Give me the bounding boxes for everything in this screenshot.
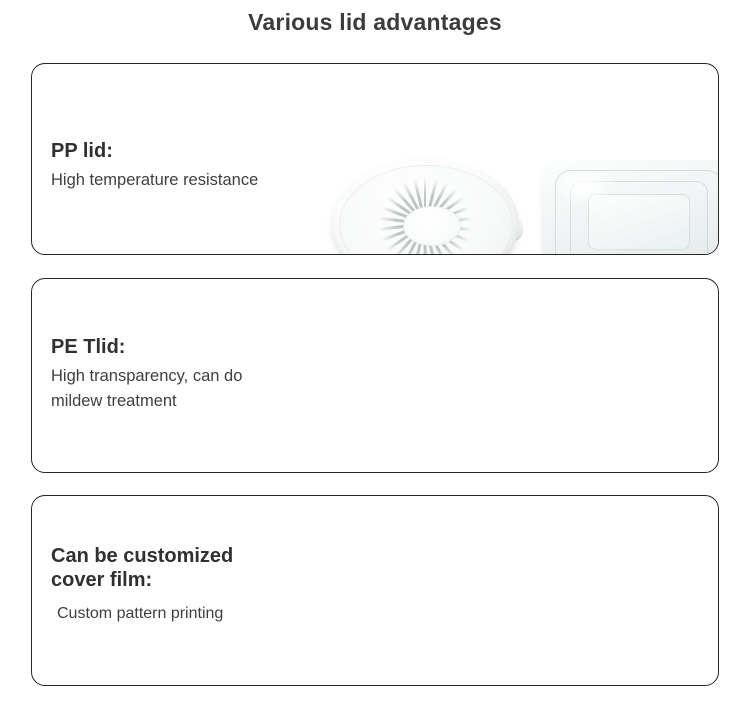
card-pe-text-block: PE Tlid: High transparency, can do milde… bbox=[51, 336, 341, 415]
card-pe-heading: PE Tlid: bbox=[51, 336, 341, 360]
card-pe-lid: PE Tlid: High transparency, can do milde… bbox=[31, 278, 719, 473]
pp-round-ribbed-lid-image bbox=[331, 157, 531, 255]
pp-rect-lid-highlight bbox=[560, 172, 620, 206]
page-title: Various lid advantages bbox=[0, 9, 750, 36]
card-pp-subtext: High temperature resistance bbox=[51, 168, 341, 194]
card-pe-subtext: High transparency, can do mildew treatme… bbox=[51, 364, 341, 415]
pp-round-lid-center-hub bbox=[403, 206, 461, 246]
card-pp-text-block: PP lid: High temperature resistance bbox=[51, 140, 341, 193]
card-cover-film: Can be customized cover film: Custom pat… bbox=[31, 495, 719, 686]
pp-rectangular-lid-image bbox=[542, 160, 719, 255]
card-cover-film-subtext: Custom pattern printing bbox=[51, 602, 341, 627]
card-pp-lid: PP lid: High temperature resistance bbox=[31, 63, 719, 255]
card-pp-heading: PP lid: bbox=[51, 140, 341, 164]
card-cover-film-text-block: Can be customized cover film: Custom pat… bbox=[51, 545, 341, 627]
card-cover-film-heading: Can be customized cover film: bbox=[51, 545, 341, 592]
